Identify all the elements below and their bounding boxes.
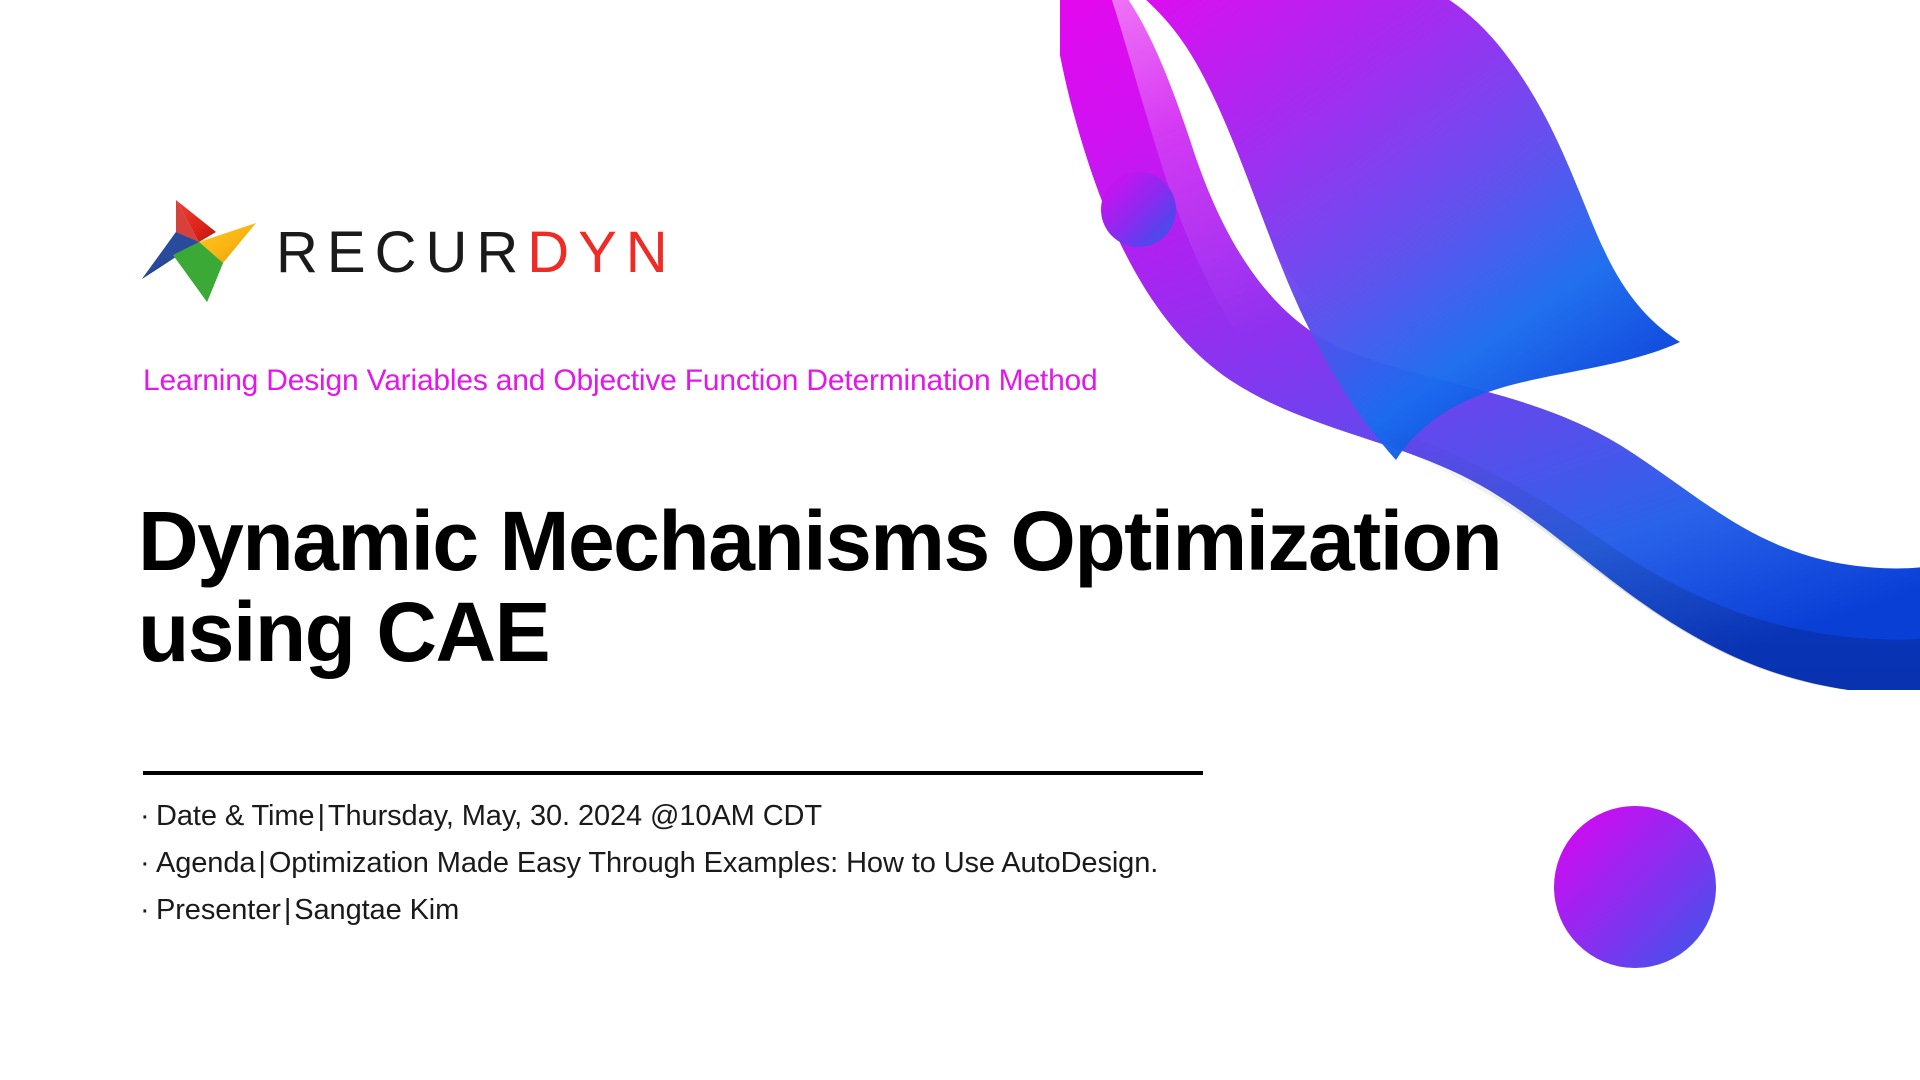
detail-label: Agenda [156,847,255,879]
gradient-sphere-large [1554,806,1716,968]
wordmark-primary: RECUR [276,220,527,285]
bullet-icon: · [140,840,156,887]
event-details-list: ·Date & Time|Thursday, May, 30. 2024 @10… [140,793,1158,934]
wordmark-accent: DYN [527,220,676,285]
eyebrow-subtitle: Learning Design Variables and Objective … [143,364,1098,398]
detail-label: Date & Time [156,800,314,832]
detail-value: Thursday, May, 30. 2024 @10AM CDT [328,800,822,832]
ribbon-highlight [1100,0,1360,370]
detail-value: Optimization Made Easy Through Examples:… [269,847,1158,879]
detail-label: Presenter [156,894,281,926]
recurdyn-wordmark: RECURDYN [276,216,677,282]
list-item: ·Agenda|Optimization Made Easy Through E… [140,840,1158,887]
list-item: ·Presenter|Sangtae Kim [140,887,1158,934]
bullet-icon: · [140,793,156,840]
detail-value: Sangtae Kim [294,894,459,926]
recurdyn-star-logo-icon [140,196,258,302]
headline-line-2: using CAE [138,587,1501,678]
gradient-sphere-small [1101,172,1176,247]
detail-separator: | [281,894,294,926]
detail-separator: | [255,847,268,879]
detail-separator: | [314,800,327,832]
headline-line-1: Dynamic Mechanisms Optimization [138,494,1501,588]
ribbon-upper-fold [1088,0,1680,460]
page-title: Dynamic Mechanisms Optimization using CA… [138,496,1501,677]
bullet-icon: · [140,887,156,934]
webinar-title-slide: RECURDYN Learning Design Variables and O… [0,0,1920,1080]
horizontal-divider [143,771,1203,775]
list-item: ·Date & Time|Thursday, May, 30. 2024 @10… [140,793,1158,840]
recurdyn-logo: RECURDYN [140,196,677,302]
